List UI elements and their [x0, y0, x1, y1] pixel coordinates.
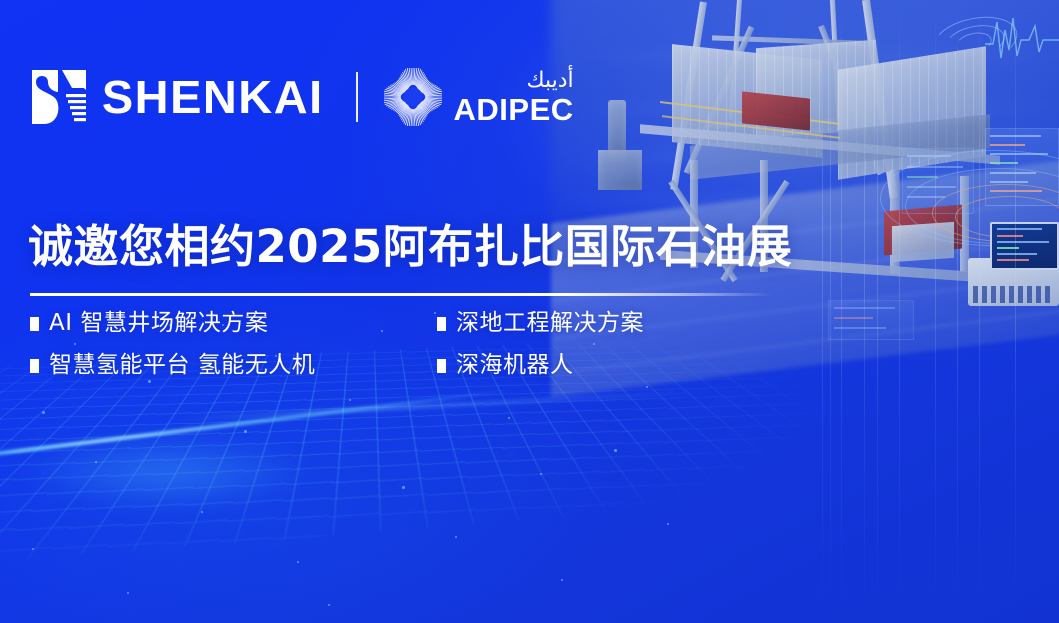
adipec-latin-name: ADIPEC	[454, 94, 574, 125]
logo-row: SHENKAI أديبك ADIPEC	[28, 68, 574, 126]
promo-banner: SHENKAI أديبك ADIPEC 诚邀您相约2025阿布扎比国际石	[0, 0, 1059, 623]
adipec-radial-burst-icon	[384, 68, 442, 126]
shenkai-s-mark-icon	[28, 68, 90, 126]
bullet-square-icon	[437, 317, 446, 331]
shenkai-wordmark: SHENKAI	[102, 74, 324, 120]
feature-label: AI 智慧井场解决方案	[49, 312, 268, 335]
adipec-logo: أديبك ADIPEC	[384, 68, 574, 126]
feature-row: 智慧氢能平台 氢能无人机 深海机器人	[30, 354, 750, 396]
title-divider	[30, 293, 772, 296]
logo-divider	[356, 72, 358, 122]
feature-item: 深地工程解决方案	[437, 312, 644, 335]
bullet-square-icon	[30, 359, 39, 373]
adipec-text: أديبك ADIPEC	[454, 70, 574, 125]
bullet-square-icon	[437, 359, 446, 373]
feature-item: 智慧氢能平台 氢能无人机	[30, 354, 437, 377]
adipec-arabic-name: أديبك	[526, 70, 573, 92]
feature-label: 智慧氢能平台 氢能无人机	[49, 354, 315, 377]
banner-content: SHENKAI أديبك ADIPEC 诚邀您相约2025阿布扎比国际石	[0, 0, 1059, 623]
feature-row: AI 智慧井场解决方案 深地工程解决方案	[30, 312, 750, 354]
feature-item: AI 智慧井场解决方案	[30, 312, 437, 335]
page-title: 诚邀您相约2025阿布扎比国际石油展	[28, 222, 792, 272]
bullet-square-icon	[30, 317, 39, 331]
feature-item: 深海机器人	[437, 354, 574, 377]
feature-label: 深海机器人	[456, 354, 574, 377]
feature-label: 深地工程解决方案	[456, 312, 644, 335]
feature-list: AI 智慧井场解决方案 深地工程解决方案 智慧氢能平台 氢能无人机 深海机器人	[30, 312, 750, 396]
